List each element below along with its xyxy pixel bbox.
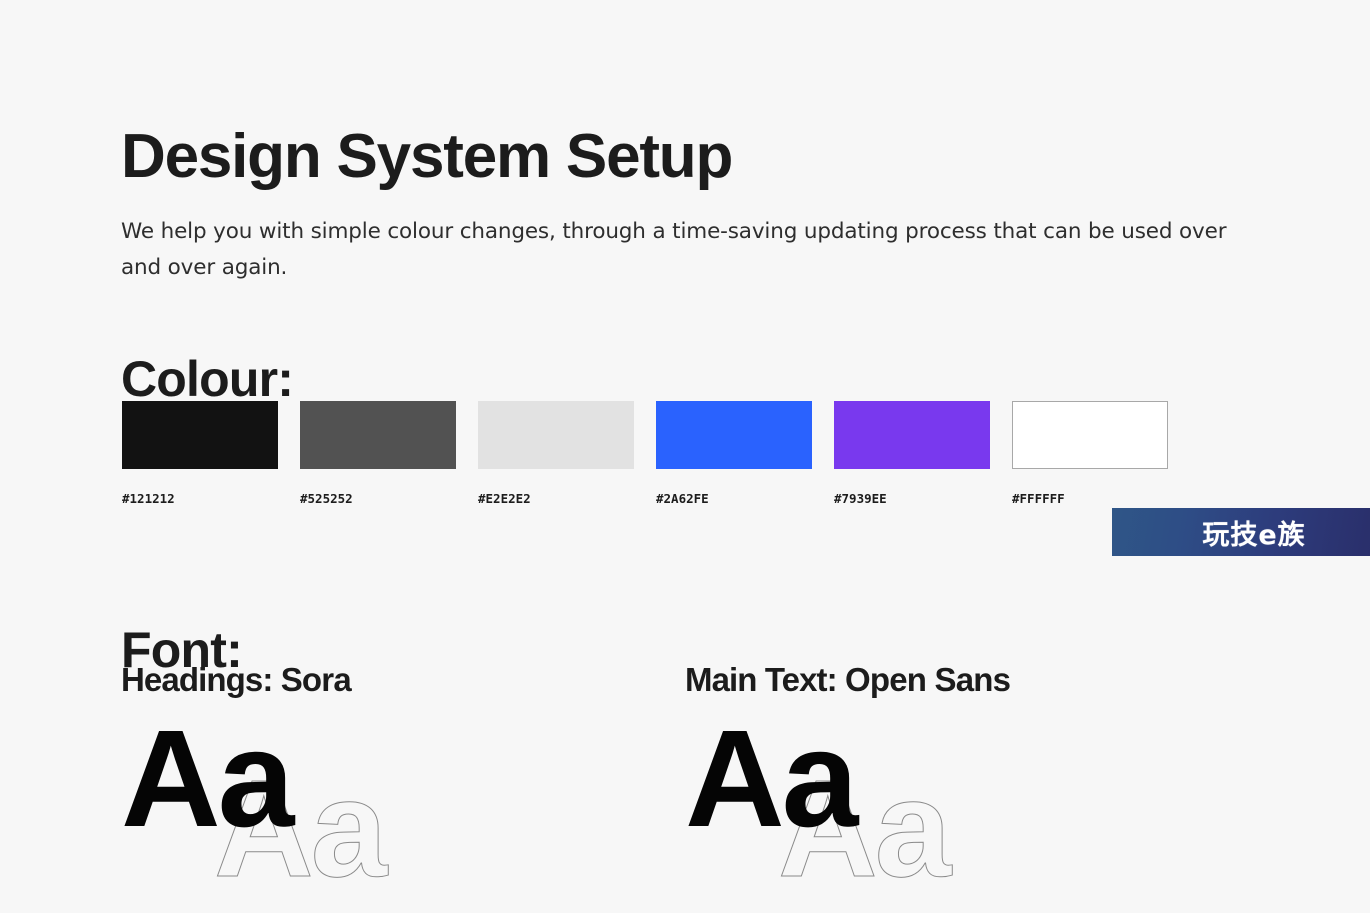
colour-swatch-chip[interactable] bbox=[478, 401, 634, 469]
font-typeface-name: Sora bbox=[281, 661, 351, 698]
font-specimen-headings: Aa Aa bbox=[121, 710, 541, 890]
colour-swatch-item[interactable]: #7939EE bbox=[834, 401, 990, 506]
colour-swatch-chip[interactable] bbox=[300, 401, 456, 469]
colour-swatch-label: #525252 bbox=[300, 491, 456, 506]
font-block-main-text: Main Text: Open Sans Aa Aa bbox=[685, 662, 1105, 890]
font-role-label: Headings: bbox=[121, 661, 272, 698]
font-role-label: Main Text: bbox=[685, 661, 837, 698]
colour-swatch-row: #121212 #525252 #E2E2E2 #2A62FE #7939EE … bbox=[122, 401, 1168, 506]
font-role-line: Main Text: Open Sans bbox=[685, 662, 1105, 698]
font-specimen-filled-glyphs: Aa bbox=[685, 710, 855, 848]
font-specimen-filled-glyphs: Aa bbox=[121, 710, 291, 848]
colour-swatch-item[interactable]: #525252 bbox=[300, 401, 456, 506]
colour-swatch-item[interactable]: #FFFFFF bbox=[1012, 401, 1168, 506]
design-system-page: Design System Setup We help you with sim… bbox=[0, 0, 1370, 913]
watermark-badge: 玩技e族 bbox=[1112, 508, 1370, 556]
colour-swatch-chip[interactable] bbox=[656, 401, 812, 469]
colour-swatch-label: #FFFFFF bbox=[1012, 491, 1168, 506]
colour-swatch-label: #2A62FE bbox=[656, 491, 812, 506]
colour-swatch-label: #7939EE bbox=[834, 491, 990, 506]
colour-swatch-chip[interactable] bbox=[122, 401, 278, 469]
font-role-line: Headings: Sora bbox=[121, 662, 541, 698]
font-specimen-main-text: Aa Aa bbox=[685, 710, 1105, 890]
font-block-headings: Headings: Sora Aa Aa bbox=[121, 662, 541, 890]
colour-section-heading: Colour: bbox=[121, 354, 293, 404]
watermark-label: 玩技e族 bbox=[1176, 513, 1305, 552]
colour-swatch-chip[interactable] bbox=[1012, 401, 1168, 469]
colour-swatch-label: #121212 bbox=[122, 491, 278, 506]
colour-swatch-item[interactable]: #2A62FE bbox=[656, 401, 812, 506]
colour-swatch-chip[interactable] bbox=[834, 401, 990, 469]
colour-swatch-item[interactable]: #121212 bbox=[122, 401, 278, 506]
colour-swatch-label: #E2E2E2 bbox=[478, 491, 634, 506]
page-title: Design System Setup bbox=[121, 124, 732, 189]
colour-swatch-item[interactable]: #E2E2E2 bbox=[478, 401, 634, 506]
font-typeface-name: Open Sans bbox=[845, 661, 1010, 698]
page-subtitle: We help you with simple colour changes, … bbox=[121, 214, 1251, 286]
